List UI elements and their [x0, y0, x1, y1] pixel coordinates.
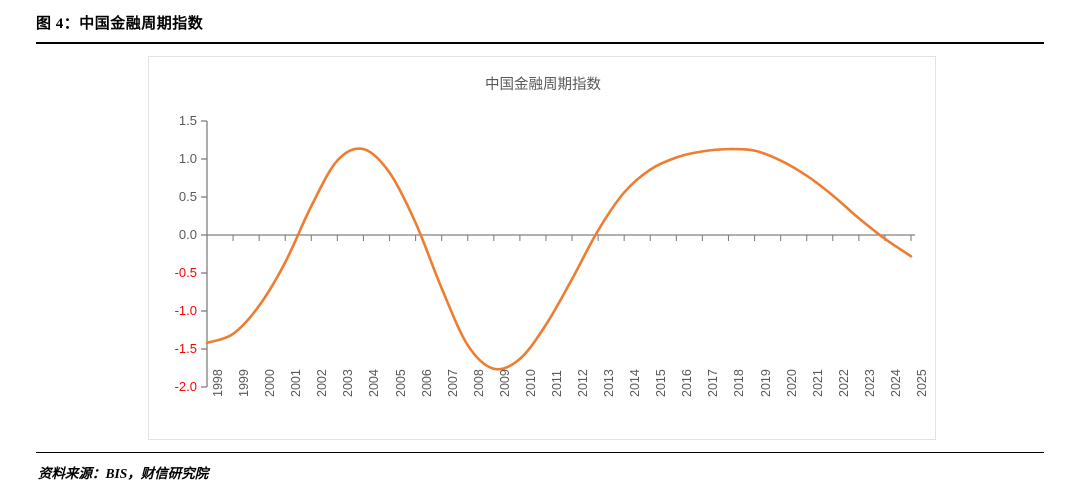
series-layer	[207, 149, 911, 370]
x-tick-label: 2024	[890, 369, 902, 397]
x-tick-label: 2025	[916, 369, 928, 397]
x-tick-label: 2022	[838, 369, 850, 397]
x-tick-label: 2007	[447, 369, 459, 397]
x-tick-label: 2017	[707, 369, 719, 397]
source-note: 资料来源：BIS，财信研究院	[38, 462, 208, 482]
x-tick-label: 2016	[681, 369, 693, 397]
y-tick-label: -1.0	[151, 304, 197, 317]
x-tick-label: 2014	[629, 369, 641, 397]
x-tick-label: 2013	[603, 369, 615, 397]
header-divider	[36, 42, 1044, 44]
x-tick-label: 2001	[290, 369, 302, 397]
series-line-0	[207, 149, 911, 370]
x-tick-label: 2010	[525, 369, 537, 397]
x-tick-label: 2005	[395, 369, 407, 397]
x-tick-label: 2000	[264, 369, 276, 397]
x-tick-label: 2018	[733, 369, 745, 397]
y-tick-label: -0.5	[151, 266, 197, 279]
footer-divider	[36, 452, 1044, 453]
x-tick-label: 2003	[342, 369, 354, 397]
x-tick-label: 2009	[499, 369, 511, 397]
y-tick-label: 1.5	[151, 114, 197, 127]
y-tick-label: -1.5	[151, 342, 197, 355]
x-tick-label: 2006	[421, 369, 433, 397]
x-tick-label: 2008	[473, 369, 485, 397]
x-tick-label: 2019	[760, 369, 772, 397]
y-tick-label: 1.0	[151, 152, 197, 165]
x-tick-label: 1999	[238, 369, 250, 397]
figure-header: 图 4：中国金融周期指数	[36, 14, 1044, 44]
y-tick-label: 0.0	[151, 228, 197, 241]
x-tick-label: 2012	[577, 369, 589, 397]
x-tick-label: 2004	[368, 369, 380, 397]
plot-area: 1.51.00.50.0-0.5-1.0-1.5-2.0 19981999200…	[149, 57, 937, 441]
chart-container: 中国金融周期指数 1.51.00.50.0-0.5-1.0-1.5-2.0 19…	[148, 56, 936, 440]
figure-caption: 图 4：中国金融周期指数	[36, 14, 1044, 34]
x-tick-label: 2015	[655, 369, 667, 397]
x-tick-label: 2020	[786, 369, 798, 397]
y-tick-label: -2.0	[151, 380, 197, 393]
x-tick-label: 2021	[812, 369, 824, 397]
x-tick-label: 2011	[551, 370, 563, 397]
x-tick-label: 2002	[316, 369, 328, 397]
y-tick-label: 0.5	[151, 190, 197, 203]
x-tick-label: 1998	[212, 369, 224, 397]
x-tick-label: 2023	[864, 369, 876, 397]
axis-layer	[201, 121, 915, 387]
